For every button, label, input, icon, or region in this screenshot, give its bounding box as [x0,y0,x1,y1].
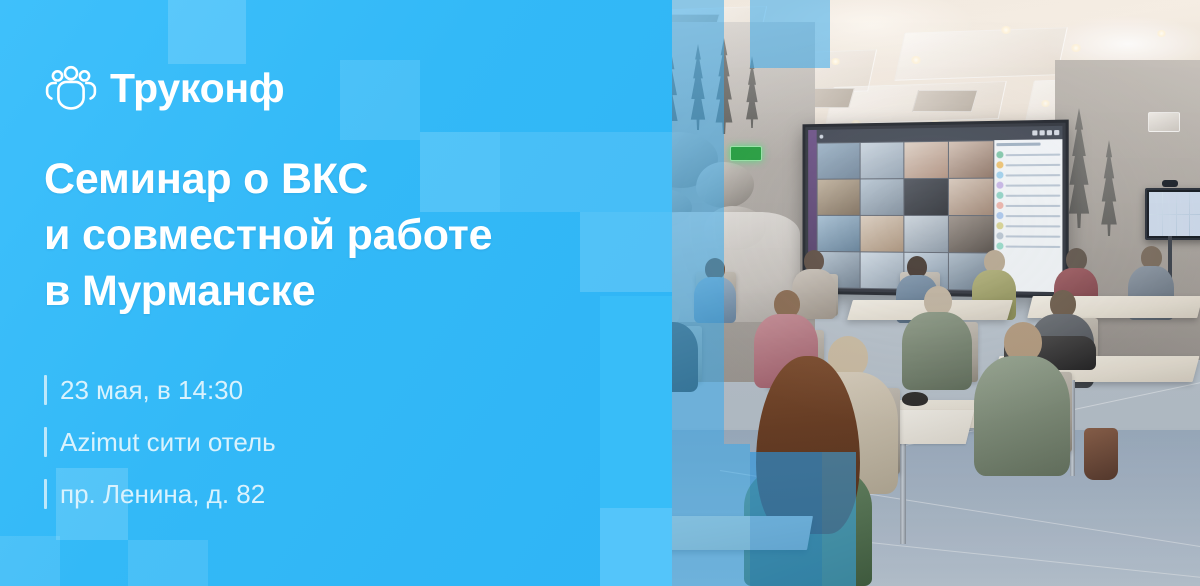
ceiling-vent [912,90,978,112]
event-details: 23 мая, в 14:30 Azimut сити отель пр. Ле… [44,375,276,509]
downlight [1040,100,1051,107]
tv-tile [1190,215,1200,237]
vc-participant-row [996,242,1060,250]
vc-tile [949,216,993,253]
headline-line-3: в Мурманске [44,264,492,320]
tv-tile [1190,192,1200,214]
vc-layout-icon [1054,130,1059,135]
tv-tile [1163,215,1176,237]
brand-logo[interactable]: Труконф [44,64,284,112]
vc-share-icon [1047,130,1052,135]
exit-sign-icon [730,146,762,161]
detail-date: 23 мая, в 14:30 [44,375,276,405]
vertical-bar-icon [44,427,47,457]
group-of-people-icon [44,64,98,112]
headline-line-2: и совместной работе [44,208,492,264]
attendee-torso [902,312,972,390]
vc-tile [861,216,904,252]
vc-tile [861,142,904,178]
vc-participant-row [996,151,1060,159]
downlight [830,58,841,65]
vc-participant-row [996,181,1060,188]
vc-name-line [1006,184,1061,186]
decor-square-overlay [672,444,750,586]
wall-speaker [1148,112,1180,132]
vc-participant-row [996,202,1060,209]
side-tv-monitor [1145,188,1200,240]
tv-tile [1149,215,1162,237]
attendee-torso [974,356,1070,476]
brand-name: Труконф [110,68,284,109]
page-title: Семинар о ВКС и совместной работе в Мурм… [44,152,492,320]
detail-address-text: пр. Ленина, д. 82 [60,480,265,509]
vc-mic-icon [1032,130,1037,135]
vc-participant-row [996,192,1060,199]
vc-name-line [1006,215,1061,217]
vc-avatar [996,192,1003,199]
event-banner: Труконф Семинар о ВКС и совместной работ… [0,0,1200,586]
decor-square-overlay [822,452,856,586]
vc-name-line [1006,235,1061,237]
detail-address: пр. Ленина, д. 82 [44,479,276,509]
vc-avatar [996,202,1003,209]
vertical-bar-icon [44,375,47,405]
vc-camera-icon [1040,130,1045,135]
vc-participant-row [996,212,1060,219]
vc-avatar [996,171,1003,178]
mouse [902,392,928,406]
vc-tile [861,179,904,215]
vc-participant-row [996,161,1060,169]
vc-avatar [996,222,1003,229]
attendee [972,322,1072,478]
vc-avatar [996,182,1003,189]
conference-camera [1162,180,1178,187]
vertical-bar-icon [44,479,47,509]
decor-square-overlay [672,148,724,294]
ceiling-panel [894,27,1068,81]
vc-avatar [996,242,1003,249]
vc-avatar [996,212,1003,219]
vc-participant-row [996,232,1060,239]
tv-screen-grid [1149,192,1200,236]
decor-square-overlay [750,452,822,586]
detail-venue-text: Azimut сити отель [60,428,276,457]
vc-name-line [1006,174,1061,176]
vc-name-line [1006,194,1061,196]
vc-name-line [1006,204,1061,206]
detail-venue: Azimut сити отель [44,427,276,457]
vc-name-line [1006,153,1061,156]
vc-tile [904,142,948,178]
banner-content: Труконф Семинар о ВКС и совместной работ… [0,0,672,586]
vc-tile [818,179,860,214]
tv-tile [1177,192,1190,214]
downlight [1000,26,1012,34]
vc-participant-row [996,222,1060,229]
vc-controls [1032,130,1059,136]
attendee [900,286,974,392]
vc-name-line [1006,163,1061,166]
downlight [1070,44,1082,52]
vc-tile [818,143,860,179]
tv-tile [1163,192,1176,214]
vc-tile [949,179,993,215]
tv-tile [1149,192,1162,214]
detail-date-text: 23 мая, в 14:30 [60,376,243,405]
vc-name-line [1006,225,1061,227]
vc-tile [904,216,948,252]
vc-tile [949,141,993,178]
handbag [1084,428,1118,480]
vc-avatar [996,232,1003,239]
downlight [910,56,922,64]
decor-square-overlay [672,0,724,148]
vc-participant-row [996,171,1060,179]
vc-status-dot [820,134,824,138]
headline-line-1: Семинар о ВКС [44,152,492,208]
vc-tile [818,216,860,252]
decor-square-overlay [672,294,724,444]
downlight [1156,30,1167,37]
vc-avatar [996,161,1003,168]
vc-avatar [996,151,1003,158]
vc-list-title [996,143,1041,147]
decor-square-overlay [750,0,830,68]
tv-tile [1177,215,1190,237]
vc-tile [904,179,948,215]
